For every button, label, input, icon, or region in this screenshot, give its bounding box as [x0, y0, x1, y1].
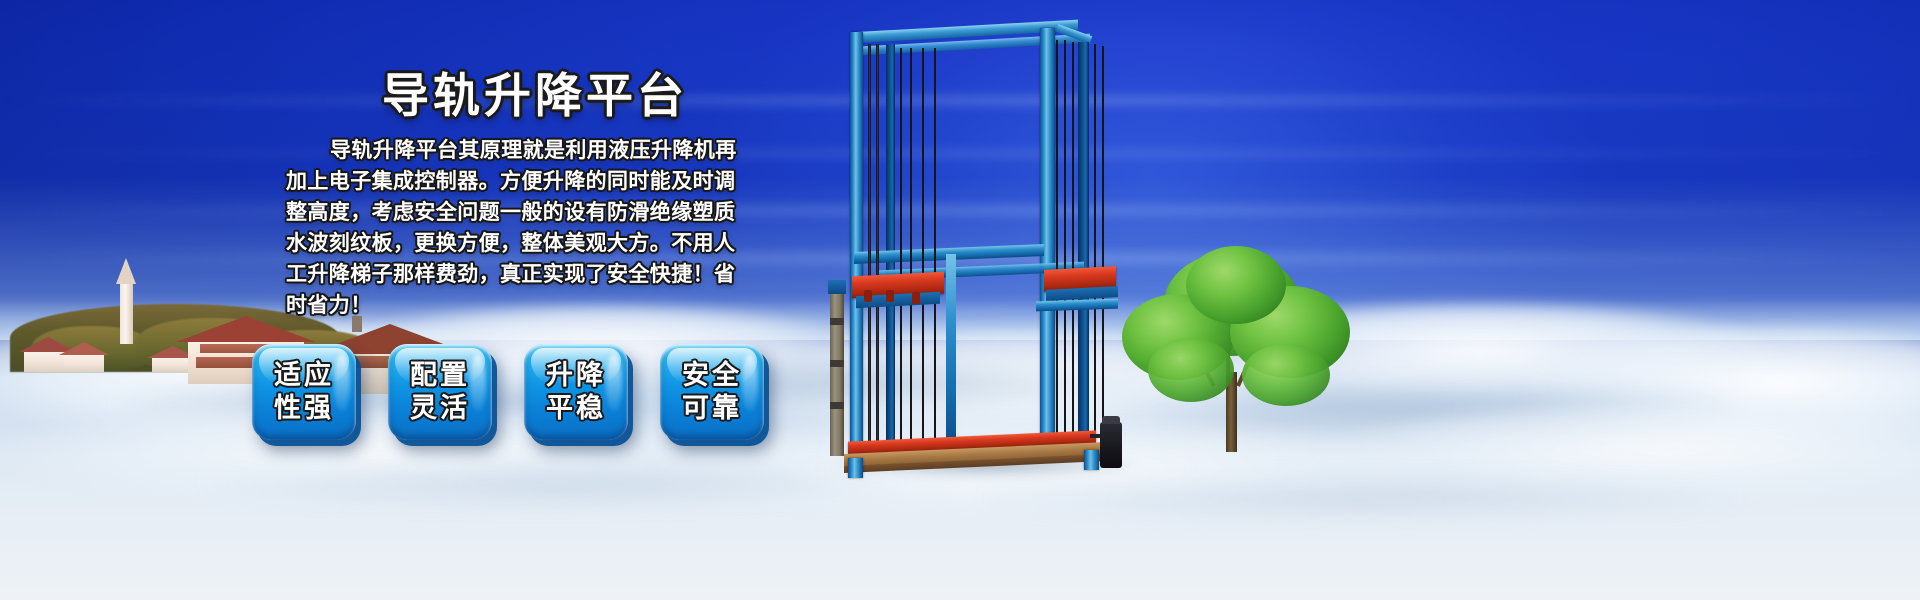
- guide-cable: [922, 48, 924, 444]
- guide-rail-track: [830, 290, 844, 456]
- guide-cable: [868, 44, 871, 444]
- product-banner: 导轨升降平台 导轨升降平台其原理就是利用液压升降机再加上电子集成控制器。方便升降…: [0, 0, 1920, 600]
- crosshead-pulley: [864, 290, 872, 302]
- feature-label-line1: 安全: [682, 359, 742, 392]
- feature-label-line2: 可靠: [682, 392, 742, 425]
- crosshead-support-beam-right: [1036, 299, 1118, 312]
- feature-button-configuration[interactable]: 配置 灵活: [388, 344, 492, 440]
- tree-foliage: [1148, 338, 1234, 402]
- guide-rail-bracket: [828, 280, 846, 294]
- village-house: [62, 342, 106, 372]
- mast-column-rear-left: [886, 44, 895, 452]
- product-description: 导轨升降平台其原理就是利用液压升降机再加上电子集成控制器。方便升降的同时能及时调…: [286, 135, 756, 321]
- guide-cable: [1094, 44, 1096, 444]
- guide-rail-notch: [830, 318, 844, 325]
- guide-rail-notch: [830, 360, 844, 367]
- guide-cable: [876, 44, 879, 444]
- guide-cable: [1102, 46, 1104, 444]
- hydraulic-power-unit: [1100, 422, 1122, 468]
- feature-button-row: 适应 性强 配置 灵活 升降 平稳 安全 可靠: [252, 344, 764, 440]
- feature-button-adaptability[interactable]: 适应 性强: [252, 344, 356, 440]
- tree-scenery: [1108, 237, 1358, 452]
- power-unit-cap: [1102, 416, 1120, 424]
- feature-button-smooth-lift[interactable]: 升降 平稳: [524, 344, 628, 440]
- feature-button-safety[interactable]: 安全 可靠: [660, 344, 764, 440]
- power-unit-hose: [1090, 434, 1104, 438]
- feature-label-line1: 升降: [546, 359, 606, 392]
- cloud-shadow: [200, 460, 900, 506]
- guide-cable: [1072, 42, 1074, 444]
- guide-cable: [934, 48, 936, 444]
- mast-column-rear-right: [1078, 42, 1089, 452]
- guide-cable: [1056, 40, 1058, 444]
- feature-label-line2: 灵活: [410, 392, 470, 425]
- house-wall: [64, 353, 104, 372]
- house-roof: [59, 342, 109, 355]
- guide-cable: [1064, 40, 1066, 444]
- guide-cable: [900, 48, 902, 444]
- base-foot-left: [848, 458, 863, 478]
- base-foot-right: [1084, 450, 1099, 470]
- mid-vertical-brace: [946, 254, 956, 452]
- guide-rail-notch: [830, 402, 844, 409]
- feature-label-line1: 适应: [274, 359, 334, 392]
- church-steeple: [120, 282, 133, 344]
- mast-column-front-right: [1040, 28, 1055, 452]
- feature-label-line2: 平稳: [546, 392, 606, 425]
- mast-column-front-left: [850, 32, 863, 452]
- feature-label-line1: 配置: [410, 359, 470, 392]
- crosshead-pulley: [912, 292, 920, 304]
- tree-foliage: [1242, 344, 1330, 406]
- guide-cable: [910, 48, 912, 444]
- feature-label-line2: 性强: [274, 392, 334, 425]
- page-title: 导轨升降平台: [382, 57, 688, 126]
- guide-rail-lift-platform: [828, 18, 1128, 488]
- crosshead-pulley: [886, 290, 894, 302]
- tree-foliage: [1186, 246, 1286, 324]
